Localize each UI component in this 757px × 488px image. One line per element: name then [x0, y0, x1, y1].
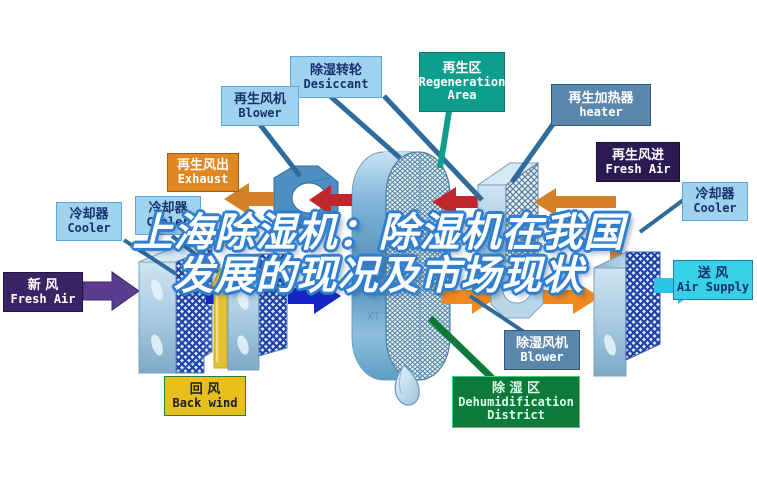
- label-desiccant-wheel-cn: 除湿转轮: [310, 64, 362, 78]
- label-regen-exhaust[interactable]: 再生风出 Exhaust: [167, 153, 239, 192]
- label-cooler-right[interactable]: 冷却器 Cooler: [682, 182, 748, 221]
- label-cooler-left-outer-cn: 冷却器: [69, 208, 108, 222]
- label-dehumid-blower-en: Blower: [520, 351, 563, 364]
- supply-coil-block: [594, 252, 660, 376]
- arrow-blower-to-coil: [543, 280, 600, 314]
- arrow-cooler2-out: [288, 278, 341, 314]
- label-regen-area-cn: 再生区: [442, 62, 481, 76]
- desiccant-wheel: XT: [352, 152, 450, 380]
- label-regen-heater-cn: 再生加热器: [568, 92, 633, 106]
- label-dehumid-blower-cn: 除湿风机: [516, 337, 568, 351]
- label-fresh-air-in[interactable]: 新 风 Fresh Air: [3, 272, 83, 312]
- cooler-block-1: [139, 247, 212, 373]
- label-fresh-air-in-en: Fresh Air: [10, 293, 75, 306]
- label-regen-exhaust-en: Exhaust: [178, 173, 229, 186]
- label-back-wind-en: Back wind: [172, 397, 237, 410]
- arrow-heater-intake: [534, 188, 616, 216]
- label-dehumid-district[interactable]: 除 湿 区 Dehumidification District: [452, 376, 580, 428]
- label-desiccant-wheel-en: Desiccant: [303, 78, 368, 91]
- label-air-supply-cn: 送 风: [698, 267, 729, 281]
- label-cooler-left-inner[interactable]: 冷却器 Cooler: [135, 196, 201, 235]
- label-dehumid-district-en: Dehumidification District: [453, 396, 579, 422]
- label-cooler-left-outer[interactable]: 冷却器 Cooler: [56, 202, 122, 241]
- label-regen-area[interactable]: 再生区 Regeneration Area: [419, 52, 505, 112]
- arrow-back-wind: [212, 268, 229, 368]
- dehumidifier-schematic-image: XT: [0, 0, 757, 488]
- label-cooler-left-inner-cn: 冷却器: [148, 202, 187, 216]
- label-dehumid-blower[interactable]: 除湿风机 Blower: [504, 330, 580, 370]
- label-regen-blower[interactable]: 再生风机 Blower: [221, 86, 299, 126]
- label-cooler-right-en: Cooler: [693, 202, 736, 215]
- label-air-supply-en: Air Supply: [677, 281, 749, 294]
- label-cooler-left-outer-en: Cooler: [67, 222, 110, 235]
- label-air-supply[interactable]: 送 风 Air Supply: [673, 260, 753, 300]
- arrow-fresh-air-in: [83, 272, 139, 310]
- label-fresh-air-in-cn: 新 风: [28, 279, 59, 293]
- label-cooler-right-cn: 冷却器: [695, 188, 734, 202]
- wheel-marking: XT: [367, 310, 381, 323]
- label-regen-heater[interactable]: 再生加热器 heater: [551, 84, 651, 126]
- label-regen-fresh-air-en: Fresh Air: [605, 163, 670, 176]
- label-back-wind-cn: 回 风: [190, 383, 221, 397]
- label-dehumid-district-cn: 除 湿 区: [492, 382, 540, 396]
- label-regen-heater-en: heater: [579, 106, 622, 119]
- label-regen-exhaust-cn: 再生风出: [177, 159, 229, 173]
- label-regen-area-en: Regeneration Area: [419, 76, 506, 102]
- label-regen-fresh-air-cn: 再生风进: [612, 149, 664, 163]
- label-desiccant-wheel[interactable]: 除湿转轮 Desiccant: [290, 56, 382, 98]
- label-back-wind[interactable]: 回 风 Back wind: [164, 376, 246, 416]
- cooler-block-2: [228, 254, 287, 370]
- label-cooler-left-inner-en: Cooler: [146, 216, 189, 229]
- dehumid-blower-body: [491, 262, 543, 318]
- label-regen-blower-cn: 再生风机: [234, 93, 286, 107]
- label-regen-fresh-air[interactable]: 再生风进 Fresh Air: [596, 142, 680, 182]
- label-regen-blower-en: Blower: [238, 107, 281, 120]
